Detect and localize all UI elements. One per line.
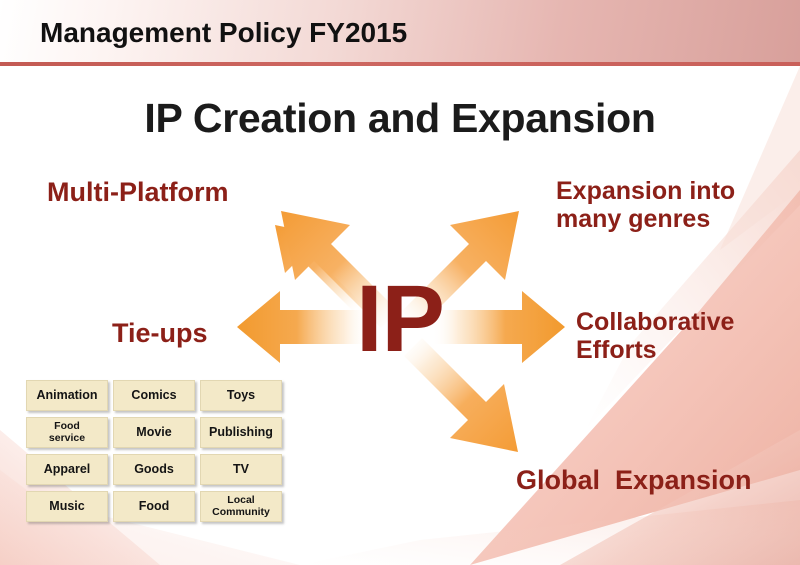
category-cell: Foodservice [26, 417, 108, 448]
label-expansion-into-genres: Expansion intomany genres [556, 177, 735, 233]
label-multi-platform: Multi-Platform [47, 177, 229, 207]
category-cell: Goods [113, 454, 195, 485]
category-cell: Food [113, 491, 195, 522]
page-title: IP Creation and Expansion [0, 95, 800, 142]
category-cell: Music [26, 491, 108, 522]
header-title: Management Policy FY2015 [40, 17, 407, 49]
category-cell: Movie [113, 417, 195, 448]
category-cell: Comics [113, 380, 195, 411]
header-divider [0, 62, 800, 66]
category-cell: Toys [200, 380, 282, 411]
category-grid: AnimationComicsToysFoodserviceMoviePubli… [26, 380, 282, 522]
category-cell: Animation [26, 380, 108, 411]
category-cell: LocalCommunity [200, 491, 282, 522]
label-global-expansion: Global Expansion [516, 465, 752, 495]
category-cell: Apparel [26, 454, 108, 485]
center-node-ip: IP [0, 272, 800, 367]
category-cell: TV [200, 454, 282, 485]
category-cell: Publishing [200, 417, 282, 448]
slide-root: Management Policy FY2015 IP Creation and… [0, 0, 800, 565]
